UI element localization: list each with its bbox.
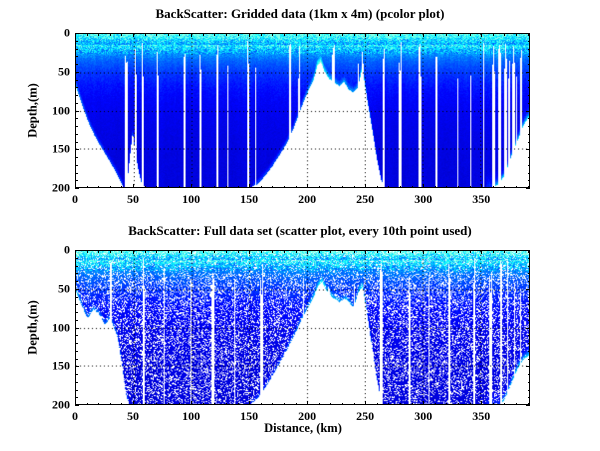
x-minor-tick xyxy=(121,186,122,189)
y-minor-tick xyxy=(528,297,531,298)
x-major-tick xyxy=(133,33,134,37)
y-minor-tick xyxy=(75,87,78,88)
y-major-tick xyxy=(75,289,79,290)
y-minor-tick xyxy=(528,49,531,50)
x-minor-tick xyxy=(400,250,401,253)
x-minor-tick xyxy=(377,250,378,253)
y-minor-tick xyxy=(528,374,531,375)
x-minor-tick xyxy=(493,33,494,36)
x-minor-tick xyxy=(504,250,505,253)
y-minor-tick xyxy=(528,173,531,174)
y-major-tick xyxy=(75,111,79,112)
y-major-tick xyxy=(526,366,530,367)
x-major-tick xyxy=(307,33,308,37)
y-minor-tick xyxy=(528,343,531,344)
x-minor-tick xyxy=(238,186,239,189)
y-major-tick xyxy=(526,289,530,290)
x-minor-tick xyxy=(238,403,239,406)
y-minor-tick xyxy=(75,49,78,50)
x-major-tick xyxy=(191,184,192,188)
x-major-tick xyxy=(307,401,308,405)
x-minor-tick xyxy=(179,186,180,189)
x-minor-tick xyxy=(319,186,320,189)
x-minor-tick xyxy=(214,33,215,36)
y-minor-tick xyxy=(75,173,78,174)
y-minor-tick xyxy=(528,64,531,65)
x-minor-tick xyxy=(87,33,88,36)
x-minor-tick xyxy=(121,33,122,36)
x-minor-tick xyxy=(493,403,494,406)
y-minor-tick xyxy=(528,304,531,305)
x-minor-tick xyxy=(435,403,436,406)
y-minor-tick xyxy=(75,397,78,398)
y-minor-tick xyxy=(75,258,78,259)
y-minor-tick xyxy=(75,134,78,135)
x-tick-label: 50 xyxy=(127,409,139,424)
x-minor-tick xyxy=(400,33,401,36)
x-minor-tick xyxy=(342,186,343,189)
x-tick-label: 0 xyxy=(72,409,78,424)
x-tick-label: 200 xyxy=(298,192,316,207)
x-tick-label: 250 xyxy=(356,409,374,424)
y-minor-tick xyxy=(528,312,531,313)
x-major-tick xyxy=(133,250,134,254)
x-minor-tick xyxy=(238,33,239,36)
x-minor-tick xyxy=(377,33,378,36)
x-minor-tick xyxy=(203,250,204,253)
x-minor-tick xyxy=(435,250,436,253)
y-minor-tick xyxy=(75,118,78,119)
x-minor-tick xyxy=(435,33,436,36)
x-minor-tick xyxy=(458,186,459,189)
y-minor-tick xyxy=(75,281,78,282)
figure-root: BackScatter: Gridded data (1km x 4m) (pc… xyxy=(0,0,600,451)
x-major-tick xyxy=(365,184,366,188)
y-minor-tick xyxy=(528,87,531,88)
x-minor-tick xyxy=(145,403,146,406)
y-minor-tick xyxy=(75,95,78,96)
x-minor-tick xyxy=(388,403,389,406)
x-minor-tick xyxy=(516,186,517,189)
x-minor-tick xyxy=(504,186,505,189)
y-minor-tick xyxy=(528,142,531,143)
x-minor-tick xyxy=(342,403,343,406)
x-minor-tick xyxy=(412,403,413,406)
panel-fullset: BackScatter: Full data set (scatter plot… xyxy=(0,223,600,451)
x-minor-tick xyxy=(98,250,99,253)
y-major-tick xyxy=(75,250,79,251)
y-minor-tick xyxy=(75,359,78,360)
y-minor-tick xyxy=(75,304,78,305)
y-minor-tick xyxy=(528,180,531,181)
x-minor-tick xyxy=(412,250,413,253)
y-minor-tick xyxy=(75,374,78,375)
y-minor-tick xyxy=(75,382,78,383)
panel-gridded: BackScatter: Gridded data (1km x 4m) (pc… xyxy=(0,6,600,218)
x-tick-label: 300 xyxy=(414,192,432,207)
x-minor-tick xyxy=(203,186,204,189)
x-minor-tick xyxy=(238,250,239,253)
x-minor-tick xyxy=(179,33,180,36)
x-minor-tick xyxy=(284,186,285,189)
y-minor-tick xyxy=(528,266,531,267)
y-major-tick xyxy=(75,149,79,150)
y-minor-tick xyxy=(528,335,531,336)
y-minor-tick xyxy=(75,103,78,104)
y-minor-tick xyxy=(528,258,531,259)
x-minor-tick xyxy=(446,186,447,189)
y-major-tick xyxy=(75,366,79,367)
x-minor-tick xyxy=(388,186,389,189)
x-major-tick xyxy=(191,401,192,405)
x-minor-tick xyxy=(458,403,459,406)
panel-fullset-title: BackScatter: Full data set (scatter plot… xyxy=(0,223,600,239)
x-major-tick xyxy=(481,401,482,405)
x-major-tick xyxy=(249,33,250,37)
y-tick-label: 0 xyxy=(33,26,70,41)
y-minor-tick xyxy=(75,142,78,143)
x-minor-tick xyxy=(179,403,180,406)
x-minor-tick xyxy=(226,186,227,189)
x-minor-tick xyxy=(296,250,297,253)
x-minor-tick xyxy=(296,403,297,406)
backscatter-pcolor-canvas xyxy=(76,34,529,187)
x-minor-tick xyxy=(342,250,343,253)
x-minor-tick xyxy=(458,33,459,36)
x-minor-tick xyxy=(296,33,297,36)
y-minor-tick xyxy=(75,335,78,336)
x-minor-tick xyxy=(342,33,343,36)
x-minor-tick xyxy=(145,186,146,189)
x-minor-tick xyxy=(156,403,157,406)
x-major-tick xyxy=(249,184,250,188)
y-minor-tick xyxy=(528,397,531,398)
x-minor-tick xyxy=(272,186,273,189)
x-tick-label: 0 xyxy=(72,192,78,207)
x-minor-tick xyxy=(354,250,355,253)
x-minor-tick xyxy=(110,186,111,189)
y-major-tick xyxy=(75,72,79,73)
x-minor-tick xyxy=(87,250,88,253)
x-minor-tick xyxy=(87,403,88,406)
y-major-tick xyxy=(75,328,79,329)
y-minor-tick xyxy=(528,281,531,282)
y-minor-tick xyxy=(75,297,78,298)
x-major-tick xyxy=(307,184,308,188)
y-minor-tick xyxy=(75,126,78,127)
x-minor-tick xyxy=(446,33,447,36)
x-tick-label: 100 xyxy=(182,192,200,207)
x-minor-tick xyxy=(516,403,517,406)
x-minor-tick xyxy=(470,33,471,36)
x-minor-tick xyxy=(168,33,169,36)
y-minor-tick xyxy=(75,64,78,65)
x-minor-tick xyxy=(156,186,157,189)
x-minor-tick xyxy=(388,33,389,36)
x-minor-tick xyxy=(330,33,331,36)
x-minor-tick xyxy=(261,403,262,406)
y-tick-label: 200 xyxy=(33,398,70,413)
x-major-tick xyxy=(423,250,424,254)
x-minor-tick xyxy=(493,250,494,253)
x-major-tick xyxy=(133,401,134,405)
x-minor-tick xyxy=(145,33,146,36)
y-minor-tick xyxy=(528,56,531,57)
x-minor-tick xyxy=(226,33,227,36)
y-minor-tick xyxy=(75,266,78,267)
x-minor-tick xyxy=(98,403,99,406)
y-major-tick xyxy=(75,405,79,406)
y-major-tick xyxy=(526,188,530,189)
x-axis-label-fullset: Distance, (km) xyxy=(264,421,342,436)
x-minor-tick xyxy=(435,186,436,189)
y-minor-tick xyxy=(528,320,531,321)
x-minor-tick xyxy=(470,186,471,189)
x-minor-tick xyxy=(504,403,505,406)
x-minor-tick xyxy=(412,186,413,189)
x-major-tick xyxy=(481,33,482,37)
y-major-tick xyxy=(526,72,530,73)
x-minor-tick xyxy=(354,403,355,406)
x-tick-label: 300 xyxy=(414,409,432,424)
y-minor-tick xyxy=(528,382,531,383)
x-minor-tick xyxy=(284,33,285,36)
y-major-tick xyxy=(75,33,79,34)
x-minor-tick xyxy=(168,186,169,189)
panel-gridded-title: BackScatter: Gridded data (1km x 4m) (pc… xyxy=(0,6,600,22)
x-minor-tick xyxy=(121,403,122,406)
x-minor-tick xyxy=(98,33,99,36)
x-major-tick xyxy=(191,250,192,254)
x-major-tick xyxy=(481,184,482,188)
y-minor-tick xyxy=(528,359,531,360)
x-minor-tick xyxy=(446,403,447,406)
y-minor-tick xyxy=(528,126,531,127)
y-tick-label: 200 xyxy=(33,181,70,196)
x-minor-tick xyxy=(377,403,378,406)
y-major-tick xyxy=(526,111,530,112)
x-minor-tick xyxy=(504,33,505,36)
x-minor-tick xyxy=(319,33,320,36)
y-axis-label-gridded: Depth,(m) xyxy=(26,56,41,166)
x-major-tick xyxy=(481,250,482,254)
y-major-tick xyxy=(526,149,530,150)
y-minor-tick xyxy=(528,134,531,135)
y-minor-tick xyxy=(75,80,78,81)
y-minor-tick xyxy=(75,165,78,166)
y-minor-tick xyxy=(528,351,531,352)
x-major-tick xyxy=(423,401,424,405)
x-minor-tick xyxy=(214,186,215,189)
x-minor-tick xyxy=(470,403,471,406)
x-minor-tick xyxy=(354,186,355,189)
x-minor-tick xyxy=(203,403,204,406)
x-minor-tick xyxy=(156,250,157,253)
x-minor-tick xyxy=(319,250,320,253)
x-minor-tick xyxy=(516,250,517,253)
y-tick-label: 0 xyxy=(33,243,70,258)
y-minor-tick xyxy=(75,180,78,181)
x-major-tick xyxy=(423,184,424,188)
backscatter-scatter-canvas xyxy=(76,251,529,404)
y-minor-tick xyxy=(528,103,531,104)
x-minor-tick xyxy=(110,403,111,406)
x-minor-tick xyxy=(412,33,413,36)
y-minor-tick xyxy=(75,351,78,352)
x-minor-tick xyxy=(354,33,355,36)
x-minor-tick xyxy=(330,403,331,406)
x-minor-tick xyxy=(168,250,169,253)
x-minor-tick xyxy=(110,250,111,253)
x-tick-label: 150 xyxy=(240,409,258,424)
x-minor-tick xyxy=(330,186,331,189)
x-minor-tick xyxy=(98,186,99,189)
plot-area-fullset[interactable] xyxy=(75,250,530,405)
y-major-tick xyxy=(526,405,530,406)
x-minor-tick xyxy=(516,33,517,36)
y-minor-tick xyxy=(528,118,531,119)
plot-area-gridded[interactable] xyxy=(75,33,530,188)
x-minor-tick xyxy=(470,250,471,253)
y-minor-tick xyxy=(75,312,78,313)
x-minor-tick xyxy=(284,250,285,253)
x-minor-tick xyxy=(203,33,204,36)
y-minor-tick xyxy=(75,41,78,42)
x-minor-tick xyxy=(145,250,146,253)
x-major-tick xyxy=(191,33,192,37)
x-minor-tick xyxy=(272,403,273,406)
x-tick-label: 250 xyxy=(356,192,374,207)
x-major-tick xyxy=(365,250,366,254)
x-minor-tick xyxy=(261,250,262,253)
x-minor-tick xyxy=(446,250,447,253)
x-major-tick xyxy=(249,401,250,405)
x-minor-tick xyxy=(272,33,273,36)
x-minor-tick xyxy=(284,403,285,406)
x-minor-tick xyxy=(214,403,215,406)
x-minor-tick xyxy=(296,186,297,189)
x-minor-tick xyxy=(121,250,122,253)
x-minor-tick xyxy=(458,250,459,253)
x-minor-tick xyxy=(226,250,227,253)
y-minor-tick xyxy=(75,157,78,158)
x-minor-tick xyxy=(377,186,378,189)
y-minor-tick xyxy=(528,273,531,274)
x-minor-tick xyxy=(110,33,111,36)
x-minor-tick xyxy=(261,33,262,36)
x-tick-label: 50 xyxy=(127,192,139,207)
x-minor-tick xyxy=(400,403,401,406)
y-minor-tick xyxy=(528,41,531,42)
x-major-tick xyxy=(249,250,250,254)
y-major-tick xyxy=(526,250,530,251)
y-minor-tick xyxy=(75,343,78,344)
x-minor-tick xyxy=(226,403,227,406)
y-axis-label-fullset: Depth,(m) xyxy=(26,273,41,383)
y-minor-tick xyxy=(75,320,78,321)
x-major-tick xyxy=(307,250,308,254)
x-minor-tick xyxy=(214,250,215,253)
x-minor-tick xyxy=(319,403,320,406)
x-tick-label: 150 xyxy=(240,192,258,207)
y-major-tick xyxy=(526,33,530,34)
x-minor-tick xyxy=(179,250,180,253)
x-minor-tick xyxy=(156,33,157,36)
x-minor-tick xyxy=(168,403,169,406)
x-major-tick xyxy=(365,33,366,37)
x-minor-tick xyxy=(87,186,88,189)
y-major-tick xyxy=(75,188,79,189)
x-tick-label: 100 xyxy=(182,409,200,424)
x-minor-tick xyxy=(493,186,494,189)
y-minor-tick xyxy=(75,273,78,274)
x-major-tick xyxy=(423,33,424,37)
y-major-tick xyxy=(526,328,530,329)
y-minor-tick xyxy=(528,390,531,391)
y-minor-tick xyxy=(75,56,78,57)
x-minor-tick xyxy=(400,186,401,189)
x-minor-tick xyxy=(261,186,262,189)
x-tick-label: 350 xyxy=(472,192,490,207)
y-minor-tick xyxy=(528,165,531,166)
x-major-tick xyxy=(133,184,134,188)
y-minor-tick xyxy=(528,80,531,81)
y-minor-tick xyxy=(528,157,531,158)
x-minor-tick xyxy=(272,250,273,253)
x-major-tick xyxy=(365,401,366,405)
x-tick-label: 350 xyxy=(472,409,490,424)
y-minor-tick xyxy=(75,390,78,391)
x-minor-tick xyxy=(388,250,389,253)
x-minor-tick xyxy=(330,250,331,253)
y-minor-tick xyxy=(528,95,531,96)
